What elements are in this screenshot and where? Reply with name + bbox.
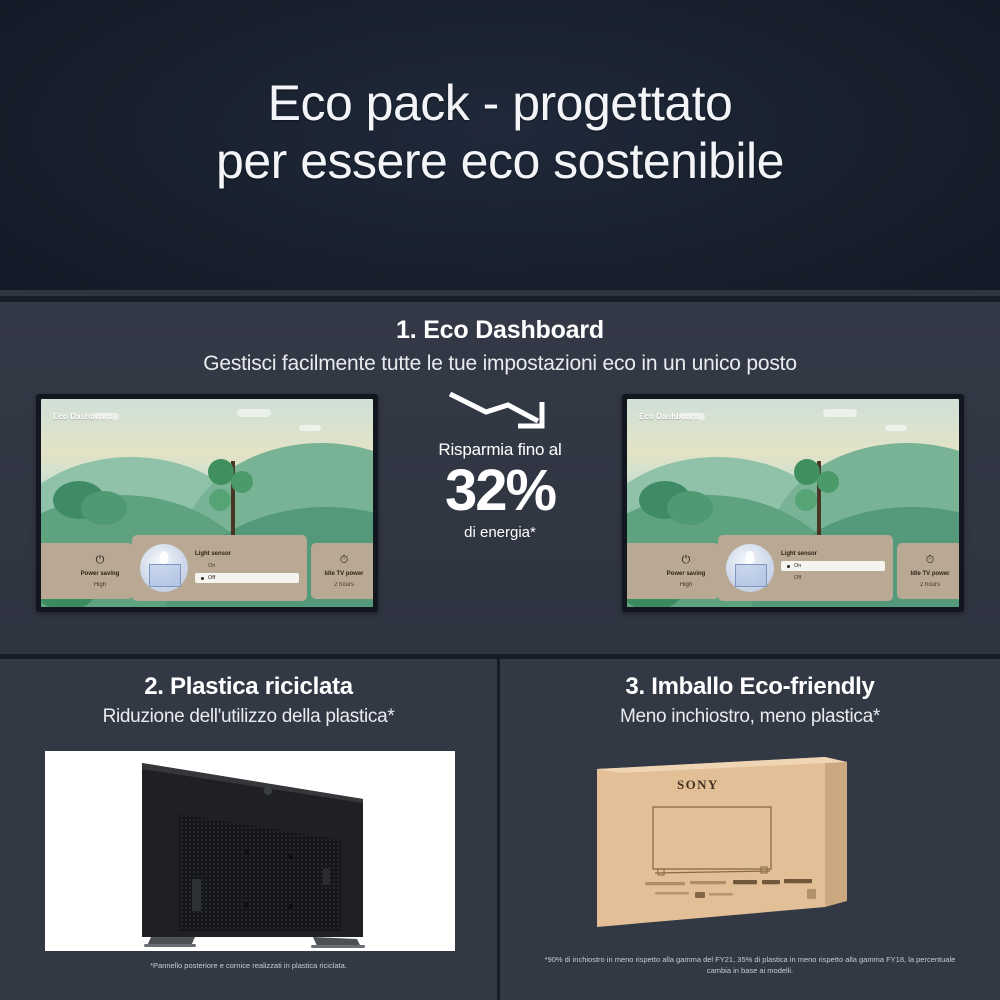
- trend-down-arrow-icon: [446, 388, 554, 432]
- section2-footnote: *Pannello posteriore e cornice realizzat…: [0, 961, 497, 972]
- idle-tv-power-value: 2 hours: [334, 582, 354, 588]
- tv-rear-illustration: [45, 751, 455, 951]
- eco-dashboard-screen-label: Eco Dashboard: [639, 412, 699, 421]
- radio-dot-icon: [787, 565, 790, 568]
- power-icon: ⏻: [96, 555, 105, 566]
- hero-title-line-2: per essere eco sostenibile: [216, 132, 784, 190]
- power-saving-value: High: [680, 582, 692, 588]
- power-saving-title: Power saving: [81, 571, 120, 577]
- card-power-saving[interactable]: ⏻ Power saving High: [653, 543, 719, 599]
- card-light-sensor[interactable]: Light sensor On Off: [132, 535, 307, 601]
- cloud-icon: [299, 425, 321, 431]
- tree-foliage: [817, 471, 839, 493]
- light-sensor-option-off[interactable]: Off: [195, 573, 299, 583]
- stat-top-label: Risparmia fino al: [390, 440, 610, 460]
- section2-subtitle: Riduzione dell'utilizzo della plastica*: [0, 706, 497, 728]
- stat-bottom-label: di energia*: [390, 524, 610, 541]
- section2-title: 2. Plastica riciclata: [0, 673, 497, 701]
- bush-shape: [667, 491, 713, 525]
- tree-foliage: [795, 489, 817, 511]
- idle-tv-power-value: 2 hours: [920, 582, 940, 588]
- tree-foliage: [209, 489, 231, 511]
- section-recycled-plastic: 2. Plastica riciclata Riduzione dell'uti…: [0, 654, 500, 1000]
- cloud-icon: [885, 425, 907, 431]
- card-idle-tv-power[interactable]: ⏱ Idle TV power 2 hours: [311, 543, 373, 599]
- section3-title: 3. Imballo Eco-friendly: [500, 673, 1000, 701]
- light-bulb-icon: [140, 544, 188, 592]
- light-sensor-option-on-label: On: [794, 563, 801, 569]
- tv-screen-after: Eco Dashboard ⏻ Power saving High Light …: [627, 399, 959, 607]
- card-idle-tv-power[interactable]: ⏱ Idle TV power 2 hours: [897, 543, 959, 599]
- idle-tv-power-title: Idle TV power: [910, 571, 949, 577]
- hero-title-line-1: Eco pack - progettato: [216, 74, 784, 132]
- timer-icon: ⏱: [926, 555, 935, 566]
- tv-screenshot-before: Eco Dashboard ⏻ Power saving High Light …: [36, 394, 378, 612]
- radio-dot-icon: [201, 577, 204, 580]
- idle-tv-power-title: Idle TV power: [324, 571, 363, 577]
- light-sensor-option-off-label: Off: [794, 575, 801, 581]
- eco-dashboard-panel-after: ⏻ Power saving High Light sensor On: [627, 535, 959, 601]
- card-power-saving[interactable]: ⏻ Power saving High: [67, 543, 133, 599]
- section3-header: 3. Imballo Eco-friendly Meno inchiostro,…: [500, 659, 1000, 728]
- section1-title: 1. Eco Dashboard: [0, 316, 1000, 345]
- light-sensor-controls: Light sensor On Off: [195, 551, 299, 585]
- power-saving-title: Power saving: [667, 571, 706, 577]
- light-sensor-option-on[interactable]: On: [195, 561, 299, 571]
- cardboard-box-illustration: SONY: [525, 751, 975, 951]
- bush-shape: [81, 491, 127, 525]
- eco-dashboard-screen-label: Eco Dashboard: [53, 412, 113, 421]
- energy-saving-stat: Risparmia fino al 32% di energia*: [390, 388, 610, 541]
- light-sensor-option-on-label: On: [208, 563, 215, 569]
- tree-foliage: [231, 471, 253, 493]
- cloud-icon: [237, 409, 271, 417]
- section1-header: 1. Eco Dashboard Gestisci facilmente tut…: [0, 302, 1000, 376]
- tv-screen-before: Eco Dashboard ⏻ Power saving High Light …: [41, 399, 373, 607]
- tv-rear-photo: [45, 751, 455, 951]
- eco-pack-infographic: Eco pack - progettato per essere eco sos…: [0, 0, 1000, 1000]
- box-brand-label: SONY: [677, 777, 719, 792]
- timer-icon: ⏱: [340, 555, 349, 566]
- light-sensor-title: Light sensor: [781, 551, 885, 557]
- light-sensor-controls: Light sensor On Off: [781, 551, 885, 585]
- section3-footnote: *90% di inchiostro in meno rispetto alla…: [500, 955, 1000, 977]
- light-sensor-option-off[interactable]: Off: [781, 573, 885, 583]
- tv-screenshot-after: Eco Dashboard ⏻ Power saving High Light …: [622, 394, 964, 612]
- light-sensor-option-on[interactable]: On: [781, 561, 885, 571]
- power-icon: ⏻: [682, 555, 691, 566]
- section2-header: 2. Plastica riciclata Riduzione dell'uti…: [0, 659, 497, 728]
- section3-subtitle: Meno inchiostro, meno plastica*: [500, 706, 1000, 728]
- cloud-icon: [823, 409, 857, 417]
- page-title: Eco pack - progettato per essere eco sos…: [216, 74, 784, 216]
- light-sensor-title: Light sensor: [195, 551, 299, 557]
- eco-dashboard-panel-before: ⏻ Power saving High Light sensor On: [41, 535, 373, 601]
- section-eco-packaging: 3. Imballo Eco-friendly Meno inchiostro,…: [500, 654, 1000, 1000]
- package-photo: SONY: [525, 751, 975, 951]
- stat-value: 32%: [390, 461, 610, 522]
- section1-subtitle: Gestisci facilmente tutte le tue imposta…: [0, 352, 1000, 376]
- hero-banner: Eco pack - progettato per essere eco sos…: [0, 0, 1000, 290]
- light-sensor-option-off-label: Off: [208, 575, 215, 581]
- card-light-sensor[interactable]: Light sensor On Off: [718, 535, 893, 601]
- power-saving-value: High: [94, 582, 106, 588]
- light-bulb-icon: [726, 544, 774, 592]
